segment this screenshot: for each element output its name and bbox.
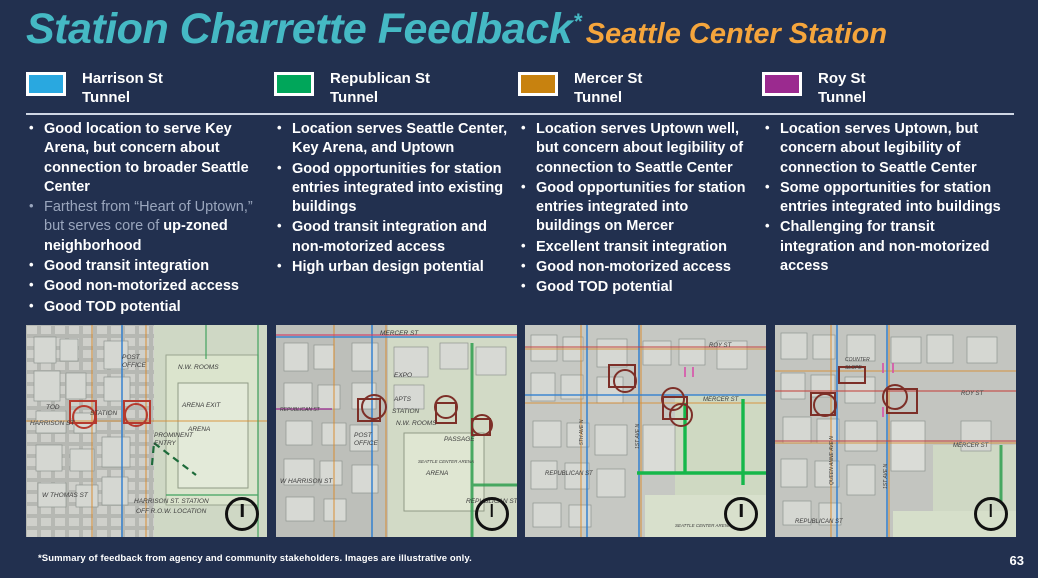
svg-text:MERCER ST: MERCER ST (380, 330, 419, 337)
north-arrow-icon (225, 497, 259, 531)
svg-text:PASSAGE: PASSAGE (444, 436, 475, 443)
north-arrow-icon (974, 497, 1008, 531)
svg-text:OFFICE: OFFICE (354, 440, 378, 447)
bullet-item: Farthest from “Heart of Uptown,” but ser… (26, 198, 266, 256)
svg-text:W THOMAS ST: W THOMAS ST (42, 492, 89, 499)
legend-swatch-roy-icon (762, 72, 802, 96)
legend-label-mercer: Mercer St Tunnel (574, 70, 642, 108)
map-panel-republican[interactable]: MERCER ST STATION N.W. ROOMS PASSAGE ARE… (276, 325, 517, 537)
bullet-item-emphasis: up-zoned neighborhood (44, 218, 228, 253)
svg-text:ROY ST: ROY ST (961, 391, 985, 397)
svg-text:REPUBLICAN ST: REPUBLICAN ST (280, 407, 321, 413)
slide-root: Station Charrette Feedback * Seattle Cen… (0, 0, 1038, 578)
title-footnote-marker: * (573, 9, 582, 35)
feedback-column-roy: Location serves Uptown, but concern abou… (762, 120, 1010, 320)
svg-text:REPUBLICAN ST: REPUBLICAN ST (795, 519, 844, 525)
svg-text:N.W. ROOMS: N.W. ROOMS (396, 420, 437, 427)
legend-item-mercer-st-tunnel[interactable]: Mercer St Tunnel (518, 70, 762, 112)
svg-text:OFFICE: OFFICE (122, 362, 146, 369)
svg-text:REPUBLICAN ST: REPUBLICAN ST (545, 471, 594, 477)
svg-text:SEATTLE CENTER ARENA: SEATTLE CENTER ARENA (418, 459, 474, 464)
legend-swatch-harrison-icon (26, 72, 66, 96)
svg-text:MERCER ST: MERCER ST (703, 397, 740, 403)
bullet-item: Good non-motorized access (518, 258, 754, 277)
page-number: 63 (1010, 553, 1024, 568)
bullet-list-roy: Location serves Uptown, but concern abou… (762, 120, 1006, 276)
feedback-columns: Good location to serve Key Arena, but co… (26, 120, 1016, 320)
svg-text:STATION: STATION (90, 410, 118, 417)
slide-header: Station Charrette Feedback * Seattle Cen… (26, 8, 1018, 58)
legend-item-republican-st-tunnel[interactable]: Republican St Tunnel (274, 70, 518, 112)
svg-text:ROY ST: ROY ST (709, 343, 733, 349)
legend-swatch-mercer-icon (518, 72, 558, 96)
map-panel-mercer[interactable]: ROY ST MERCER ST REPUBLICAN ST SEATTLE C… (525, 325, 766, 537)
bullet-item: Good opportunities for station entries i… (518, 179, 754, 237)
svg-text:PROMINENT: PROMINENT (154, 432, 194, 439)
svg-text:ENTRY: ENTRY (154, 440, 176, 447)
map-panels: N.W. ROOMS ARENA EXIT ARENA POSTOFFICE S… (26, 325, 1016, 537)
north-arrow-icon (475, 497, 509, 531)
map-panel-harrison[interactable]: N.W. ROOMS ARENA EXIT ARENA POSTOFFICE S… (26, 325, 267, 537)
svg-text:POST: POST (354, 432, 373, 439)
svg-text:SLOPE: SLOPE (845, 365, 862, 371)
bullet-list-mercer: Location serves Uptown well, but concern… (518, 120, 754, 298)
bullet-item: High urban design potential (274, 258, 510, 277)
svg-text:TOD: TOD (46, 404, 60, 411)
bullet-item: Challenging for transit integration and … (762, 218, 1006, 276)
svg-text:QUEEN ANNE AVE N: QUEEN ANNE AVE N (829, 436, 835, 485)
legend: Harrison St Tunnel Republican St Tunnel … (26, 70, 1016, 112)
bullet-item: Location serves Seattle Center, Key Aren… (274, 120, 510, 159)
svg-text:ARENA: ARENA (425, 470, 448, 477)
svg-text:COUNTER: COUNTER (845, 357, 870, 363)
svg-text:MERCER ST: MERCER ST (953, 443, 990, 449)
svg-text:1ST AVE N: 1ST AVE N (883, 464, 889, 489)
svg-text:W HARRISON ST: W HARRISON ST (280, 478, 333, 485)
svg-text:SEATTLE CENTER ARENA: SEATTLE CENTER ARENA (675, 523, 731, 528)
svg-text:POST: POST (122, 354, 141, 361)
bullet-item: Some opportunities for station entries i… (762, 179, 1006, 218)
bullet-item: Good non-motorized access (26, 277, 266, 296)
map-panel-roy[interactable]: ROY ST MERCER ST REPUBLICAN ST COUNTERSL… (775, 325, 1016, 537)
svg-text:HARRISON ST: HARRISON ST (30, 420, 75, 427)
legend-item-roy-st-tunnel[interactable]: Roy St Tunnel (762, 70, 1006, 112)
feedback-column-mercer: Location serves Uptown well, but concern… (518, 120, 762, 320)
svg-text:EXPO: EXPO (394, 372, 412, 379)
bullet-item: Good transit integration (26, 257, 266, 276)
svg-text:STATION: STATION (392, 408, 420, 415)
page-title: Station Charrette Feedback (26, 8, 572, 51)
svg-text:HARRISON ST. STATION: HARRISON ST. STATION (134, 498, 209, 505)
svg-text:APTS: APTS (393, 396, 412, 403)
legend-label-harrison: Harrison St Tunnel (82, 70, 163, 108)
bullet-item: Good TOD potential (518, 278, 754, 297)
bullet-item: Location serves Uptown well, but concern… (518, 120, 754, 178)
bullet-item: Good TOD potential (26, 298, 266, 317)
feedback-column-harrison: Good location to serve Key Arena, but co… (26, 120, 274, 320)
bullet-item: Good opportunities for station entries i… (274, 160, 510, 218)
legend-label-roy: Roy St Tunnel (818, 70, 866, 108)
bullet-list-harrison: Good location to serve Key Arena, but co… (26, 120, 266, 317)
bullet-item: Good location to serve Key Arena, but co… (26, 120, 266, 197)
bullet-item: Location serves Uptown, but concern abou… (762, 120, 1006, 178)
svg-text:ARENA EXIT: ARENA EXIT (181, 402, 221, 409)
svg-text:OFF R.O.W. LOCATION: OFF R.O.W. LOCATION (136, 508, 207, 515)
svg-text:5TH AVE N: 5TH AVE N (579, 419, 585, 445)
page-subtitle: Seattle Center Station (586, 20, 887, 49)
legend-swatch-republican-icon (274, 72, 314, 96)
bullet-item: Excellent transit integration (518, 238, 754, 257)
bullet-item: Good transit integration and non-motoriz… (274, 218, 510, 257)
feedback-column-republican: Location serves Seattle Center, Key Aren… (274, 120, 518, 320)
legend-label-republican: Republican St Tunnel (330, 70, 430, 108)
bullet-list-republican: Location serves Seattle Center, Key Aren… (274, 120, 510, 277)
svg-text:1ST AVE N: 1ST AVE N (635, 424, 641, 449)
footnote: *Summary of feedback from agency and com… (38, 553, 472, 564)
svg-text:N.W. ROOMS: N.W. ROOMS (178, 364, 219, 371)
header-divider (26, 113, 1014, 115)
legend-item-harrison-st-tunnel[interactable]: Harrison St Tunnel (26, 70, 274, 112)
